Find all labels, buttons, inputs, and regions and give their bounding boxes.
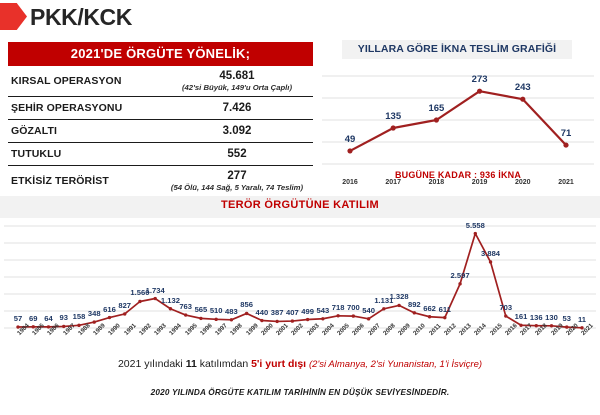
katilim-chart-xaxis: 1984198519861987198819891990199119921993… [4, 332, 596, 352]
data-point [428, 315, 431, 318]
data-label: 565 [195, 305, 208, 314]
table-row: GÖZALTI3.092 [8, 120, 313, 143]
data-point [477, 89, 482, 94]
data-point [291, 319, 294, 322]
data-label: 700 [347, 303, 360, 312]
table-row-value-cell: 7.426 [161, 100, 313, 117]
table-row: ŞEHİR OPERASYONU7.426 [8, 97, 313, 120]
data-label: 93 [59, 313, 67, 322]
x-axis-tick: 2018 [429, 179, 445, 186]
table-body: KIRSAL OPERASYON45.681(42'si Büyük, 149'… [8, 66, 313, 197]
data-point [347, 148, 352, 153]
footer-paren: (2'si Almanya, 2'si Yunanistan, 1'i İsvi… [309, 359, 482, 370]
table-row-value: 3.092 [161, 125, 313, 138]
data-label: 165 [428, 103, 444, 114]
data-label: 1.328 [390, 292, 409, 301]
data-label: 856 [240, 300, 253, 309]
data-label: 3.884 [481, 249, 500, 258]
data-label: 662 [423, 304, 436, 313]
table-row-label: GÖZALTI [8, 125, 161, 137]
footer-line-1: 2021 yılındaki 11 katılımdan 5'i yurt dı… [0, 358, 600, 370]
data-point [391, 125, 396, 130]
data-label: 69 [29, 314, 37, 323]
footer-count: 11 [186, 358, 197, 370]
data-label: 440 [256, 308, 269, 317]
table-row: KIRSAL OPERASYON45.681(42'si Büyük, 149'… [8, 66, 313, 97]
data-label: 273 [472, 74, 488, 85]
data-point [77, 324, 80, 327]
infographic-page: PKK/KCK 2021'DE ÖRGÜTE YÖNELİK; KIRSAL O… [0, 0, 600, 415]
data-label: 543 [317, 306, 330, 315]
data-label: 5.558 [466, 221, 485, 230]
data-point [504, 314, 507, 317]
data-point [245, 312, 248, 315]
table-title: 2021'DE ÖRGÜTE YÖNELİK; [8, 42, 313, 66]
ikna-chart-title: YILLARA GÖRE İKNA TESLİM GRAFİĞİ [342, 40, 572, 59]
ikna-chart: YILLARA GÖRE İKNA TESLİM GRAFİĞİ 4913516… [322, 40, 594, 192]
data-point [413, 311, 416, 314]
data-point [563, 142, 568, 147]
data-point [382, 307, 385, 310]
data-label: 57 [14, 314, 22, 323]
data-point [214, 318, 217, 321]
data-label: 71 [561, 128, 572, 139]
x-axis-tick: 2020 [515, 179, 531, 186]
statistics-table: 2021'DE ÖRGÜTE YÖNELİK; KIRSAL OPERASYON… [8, 42, 313, 197]
data-label: 616 [103, 305, 116, 314]
footer-highlight: 5'i yurt dışı [251, 358, 306, 370]
data-label: 763 [179, 302, 192, 311]
data-point [275, 320, 278, 323]
table-row-label: KIRSAL OPERASYON [8, 75, 161, 87]
table-row: TUTUKLU552 [8, 143, 313, 166]
data-label: 158 [73, 312, 86, 321]
data-label: 1.734 [146, 286, 165, 295]
data-label: 540 [362, 306, 375, 315]
data-point [458, 282, 461, 285]
data-label: 499 [301, 307, 314, 316]
data-point [108, 316, 111, 319]
section-title: TERÖR ÖRGÜTÜNE KATILIM [0, 199, 600, 211]
x-axis-tick: 2017 [385, 179, 401, 186]
table-row-value: 7.426 [161, 102, 313, 115]
page-header: PKK/KCK [0, 0, 600, 34]
katilim-chart-plot: 576964931583486168271.5601.7341.13276356… [4, 220, 596, 332]
data-point [367, 317, 370, 320]
data-label: 703 [499, 303, 512, 312]
data-point [520, 97, 525, 102]
table-row: ETKİSİZ TERÖRİST277(54 Ölü, 144 Sağ, 5 Y… [8, 166, 313, 197]
ikna-chart-plot: 4913516527324371 [322, 62, 594, 170]
table-row-value: 45.681 [161, 70, 313, 83]
data-label: 161 [515, 312, 528, 321]
data-point [230, 318, 233, 321]
data-label: 611 [439, 305, 451, 314]
page-title: PKK/KCK [30, 2, 132, 32]
table-row-value: 277 [161, 170, 313, 183]
table-row-note: (54 Ölü, 144 Sağ, 5 Yaralı, 74 Teslim) [161, 183, 313, 193]
data-label: 483 [225, 307, 238, 316]
data-point [123, 312, 126, 315]
table-row-value-cell: 3.092 [161, 123, 313, 140]
data-point [93, 320, 96, 323]
data-point [138, 300, 141, 303]
data-label: 718 [332, 303, 345, 312]
data-label: 892 [408, 300, 421, 309]
data-point [169, 307, 172, 310]
footer-text-c: katılımdan [197, 358, 251, 370]
data-label: 130 [545, 313, 558, 322]
data-point [336, 314, 339, 317]
data-label: 53 [563, 314, 571, 323]
ikna-svg [322, 62, 594, 170]
data-label: 2.597 [451, 271, 470, 280]
data-label: 827 [118, 301, 131, 310]
data-label: 348 [88, 309, 101, 318]
table-row-value-cell: 45.681(42'si Büyük, 149'u Orta Çaplı) [161, 68, 313, 95]
data-label: 407 [286, 308, 299, 317]
data-label: 243 [515, 82, 531, 93]
data-point [474, 232, 477, 235]
data-point [397, 304, 400, 307]
footer-text-a: 2021 yılındaki [118, 358, 186, 370]
data-point [199, 317, 202, 320]
data-label: 387 [271, 308, 284, 317]
table-row-label: ETKİSİZ TERÖRİST [8, 175, 161, 187]
data-label: 136 [530, 313, 543, 322]
data-point [184, 313, 187, 316]
table-row-value-cell: 552 [161, 146, 313, 163]
data-label: 11 [578, 315, 586, 324]
footer-line-2: 2020 YILINDA ÖRGÜTE KATILIM TARİHİNİN EN… [0, 388, 600, 397]
data-point [434, 117, 439, 122]
data-point [550, 324, 553, 327]
data-point [489, 260, 492, 263]
table-row-label: TUTUKLU [8, 148, 161, 160]
data-point [321, 317, 324, 320]
data-point [519, 324, 522, 327]
data-point [443, 316, 446, 319]
ikna-chart-xaxis: 201620172018201920202021 [322, 179, 594, 191]
data-point [260, 319, 263, 322]
data-label: 49 [345, 134, 356, 145]
x-axis-tick: 2021 [558, 179, 574, 186]
data-point [306, 318, 309, 321]
table-row-value: 552 [161, 148, 313, 161]
x-axis-tick: 2019 [472, 179, 488, 186]
data-label: 1.132 [161, 296, 180, 305]
table-row-note: (42'si Büyük, 149'u Orta Çaplı) [161, 83, 313, 93]
data-label: 135 [385, 111, 401, 122]
data-point [153, 297, 156, 300]
data-label: 510 [210, 306, 223, 315]
x-axis-tick: 2016 [342, 179, 358, 186]
arrow-marker-icon [0, 3, 27, 30]
katilim-chart: 576964931583486168271.5601.7341.13276356… [4, 220, 596, 350]
data-label: 64 [44, 314, 52, 323]
data-point [352, 314, 355, 317]
data-line [18, 234, 582, 328]
table-row-value-cell: 277(54 Ölü, 144 Sağ, 5 Yaralı, 74 Teslim… [161, 168, 313, 195]
table-row-label: ŞEHİR OPERASYONU [8, 102, 161, 114]
